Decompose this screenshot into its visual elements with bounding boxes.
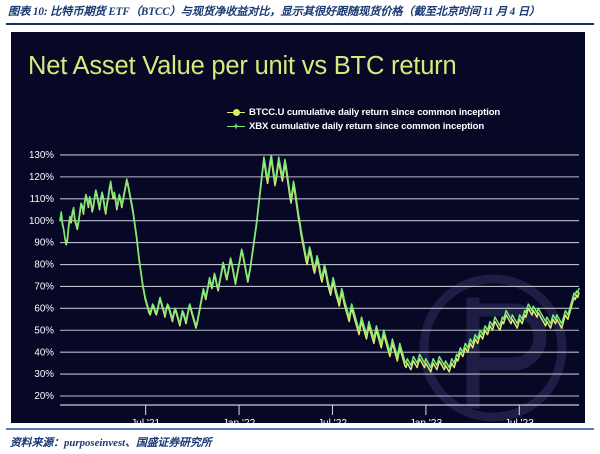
y-axis-tick-label: 80%	[34, 260, 54, 271]
y-axis-tick-label: 110%	[30, 194, 55, 205]
y-axis-tick-label: 50%	[34, 325, 54, 336]
x-axis-tick-label: Jul '21	[131, 418, 160, 423]
x-axis-tick-label: Jan '23	[410, 418, 443, 423]
x-axis-tick-label: Jul '22	[318, 418, 347, 423]
chart-panel: Net Asset Value per unit vs BTC return B…	[11, 32, 585, 423]
chart-legend: BTCC.U cumulative daily return since com…	[227, 106, 500, 133]
x-axis-tick-label: Jan '22	[223, 418, 256, 423]
chart-title: Net Asset Value per unit vs BTC return	[28, 52, 456, 81]
y-axis-tick-label: 30%	[34, 369, 54, 380]
plot-area: 20%30%40%50%60%70%80%90%100%110%120%130%…	[11, 138, 585, 423]
y-axis-tick-label: 20%	[34, 391, 54, 402]
legend-marker-plus-icon	[227, 121, 245, 133]
legend-item-btccu[interactable]: BTCC.U cumulative daily return since com…	[227, 106, 500, 119]
y-axis-tick-label: 120%	[29, 172, 54, 183]
x-axis-tick-label: Jul '23	[505, 418, 534, 423]
source-divider	[6, 428, 594, 430]
legend-label-xbx: XBX cumulative daily return since common…	[249, 121, 484, 132]
source-note: 资料来源：purposeinvest、国盛证券研究所	[10, 434, 212, 450]
exhibit-caption: 图表 10: 比特币期货 ETF（BTCC）与现货净收益对比，显示其很好跟随现货…	[8, 3, 596, 19]
legend-marker-circle-icon	[227, 107, 245, 119]
y-axis-tick-label: 40%	[34, 347, 54, 358]
y-axis-tick-label: 90%	[34, 238, 54, 249]
caption-divider	[6, 23, 594, 25]
series-line	[60, 155, 579, 368]
line-chart-svg: 20%30%40%50%60%70%80%90%100%110%120%130%…	[11, 138, 585, 423]
y-axis-tick-label: 70%	[34, 282, 54, 293]
legend-label-btccu: BTCC.U cumulative daily return since com…	[249, 107, 500, 118]
y-axis-tick-label: 100%	[29, 216, 54, 227]
y-axis-tick-label: 130%	[29, 150, 54, 161]
exhibit-page: 图表 10: 比特币期货 ETF（BTCC）与现货净收益对比，显示其很好跟随现货…	[0, 0, 600, 454]
y-axis-tick-label: 60%	[34, 303, 54, 314]
legend-item-xbx[interactable]: XBX cumulative daily return since common…	[227, 120, 500, 133]
